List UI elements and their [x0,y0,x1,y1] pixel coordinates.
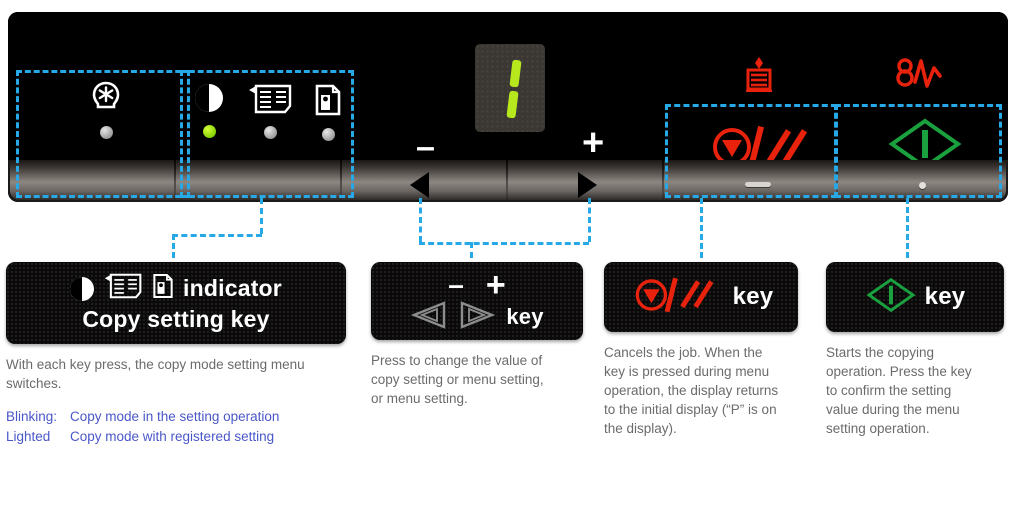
right-arrow-key[interactable] [578,172,597,198]
document-layout-icon [103,273,143,304]
left-arrow-key[interactable] [410,172,429,198]
connector-start-v [906,198,909,258]
note-text-lighted: Copy mode with registered setting [70,427,322,446]
start-icon [865,277,917,318]
plus-label: + [582,124,604,162]
legend-body-stop-reset: Cancels the job. When the key is pressed… [604,343,780,438]
connector-copy-setting-v1 [260,198,263,234]
legend-head-plus-minus: – + key [371,262,583,340]
connector-stop-v [700,198,703,258]
legend-head-copy-setting-title: Copy setting key [82,306,269,333]
control-panel: – + [8,12,1008,202]
legend-plus-minus-key: – + key Press to change the value of cop… [371,262,583,422]
legend-start-key: key Starts the copying operation. Press … [826,262,1004,452]
display-segment-upper [509,60,521,88]
connector-pm-v-left [419,198,422,242]
legend-minus-glyph: – [448,271,464,299]
legend-body-start: Starts the copying operation. Press the … [826,343,984,438]
connector-copy-setting-h [172,234,262,237]
display-segment-lower [506,91,518,119]
legend-text-stop-reset: Cancels the job. When the key is pressed… [604,343,780,438]
legend-text-copy-setting: With each key press, the copy mode setti… [6,355,322,393]
right-arrow-icon [456,300,496,335]
legend-head-copy-setting: indicator Copy setting key [6,262,346,344]
legend-head-start: key [826,262,1004,332]
legend-head-key-word: key [506,304,543,330]
seven-segment-display [475,44,545,132]
minus-label: – [416,130,435,164]
legend-text-start: Starts the copying operation. Press the … [826,343,984,438]
connector-pm-h [419,242,589,245]
connector-pm-v-mid [470,242,473,258]
callout-box-start-key [835,104,1002,198]
legend-head-indicator-word: indicator [183,275,282,302]
note-label-blinking: Blinking: [6,407,70,426]
legend-body-copy-setting: With each key press, the copy mode setti… [6,355,322,446]
legend-stop-reset-key: key Cancels the job. When the key is pre… [604,262,798,452]
legend-note-blinking: Blinking: Copy mode in the setting opera… [6,407,322,446]
id-card-copy-icon [152,273,174,304]
callout-box-stop-key [665,104,837,198]
left-arrow-icon [410,300,450,335]
legend-head-stop-reset: key [604,262,798,332]
connector-pm-v-right [588,198,591,242]
note-text-blinking: Copy mode in the setting operation [70,407,322,426]
callout-box-copy-setting [180,70,354,198]
legend-text-plus-minus: Press to change the value of copy settin… [371,351,551,408]
stop-reset-icon [629,276,725,319]
contrast-icon [70,277,94,301]
legend-head-key-word: key [925,283,966,311]
legend-head-key-word: key [733,283,774,311]
connector-copy-setting-v2 [172,234,175,258]
legend-plus-glyph: + [486,268,506,302]
note-label-lighted: Lighted [6,427,70,446]
legend-body-plus-minus: Press to change the value of copy settin… [371,351,551,408]
legend-copy-setting-key: indicator Copy setting key With each key… [6,262,346,446]
toner-paper-icon [737,54,781,103]
callout-box-power-save [16,70,190,198]
error-attention-icon [896,56,944,101]
